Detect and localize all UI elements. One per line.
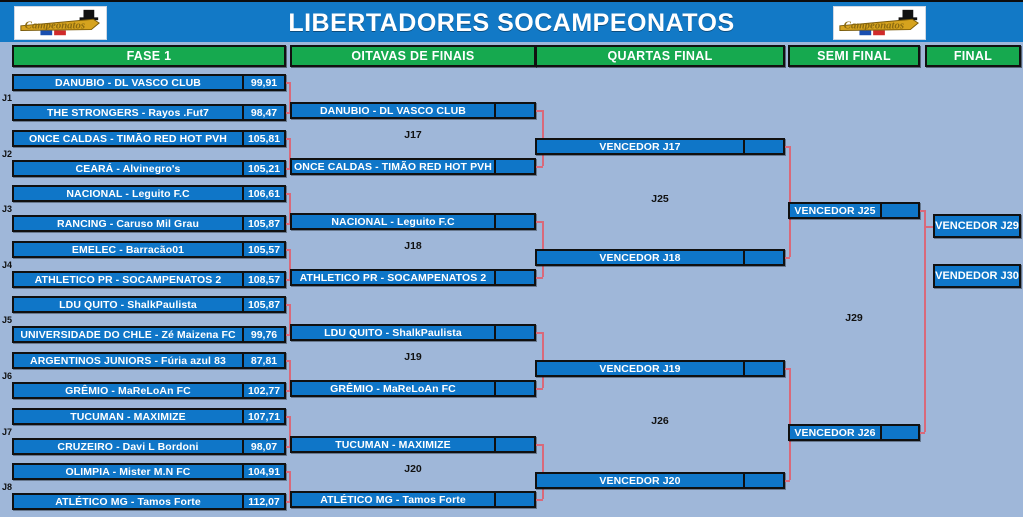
campeonatos-logo-right-icon: Campeonatos bbox=[833, 6, 926, 40]
team-score[interactable]: 105,21 bbox=[242, 162, 284, 175]
logo-graphic-right: Campeonatos bbox=[834, 7, 925, 39]
team-name: LDU QUITO - ShalkPaulista bbox=[292, 326, 494, 339]
team-score[interactable]: 108,57 bbox=[242, 273, 284, 286]
round-tab-oitavas-de-finais[interactable]: OITAVAS DE FINAIS bbox=[290, 45, 536, 67]
oitavas-team-box[interactable]: ONCE CALDAS - TIMÃO RED HOT PVH bbox=[290, 158, 536, 175]
fase1-match-label: J6 bbox=[2, 371, 12, 381]
semifinal-team-box[interactable]: VENCEDOR J26 bbox=[788, 424, 920, 441]
team-score[interactable] bbox=[743, 251, 783, 264]
fase1-team-box[interactable]: CRUZEIRO - Davi L Bordoni98,07 bbox=[12, 438, 286, 455]
quartas-match-code: J25 bbox=[535, 193, 785, 205]
team-name: VENCEDOR J17 bbox=[537, 140, 743, 153]
fase1-team-box[interactable]: UNIVERSIDADE DO CHLE - Zé Maizena FC99,7… bbox=[12, 326, 286, 343]
quartas-match-code: J26 bbox=[535, 415, 785, 427]
team-name: VENCEDOR J25 bbox=[790, 204, 880, 217]
team-name: CRUZEIRO - Davi L Bordoni bbox=[14, 440, 242, 453]
fase1-match-label: J2 bbox=[2, 149, 12, 159]
team-score[interactable]: 104,91 bbox=[242, 465, 284, 478]
oitavas-match-code: J18 bbox=[290, 240, 536, 252]
team-score[interactable]: 105,87 bbox=[242, 217, 284, 230]
fase1-team-box[interactable]: CEARÁ - Alvinegro's105,21 bbox=[12, 160, 286, 177]
team-score[interactable] bbox=[494, 215, 534, 228]
fase1-team-box[interactable]: LDU QUITO - ShalkPaulista105,87 bbox=[12, 296, 286, 313]
fase1-match-label: J4 bbox=[2, 260, 12, 270]
team-score[interactable]: 105,57 bbox=[242, 243, 284, 256]
team-name: DANUBIO - DL VASCO CLUB bbox=[14, 76, 242, 89]
team-name: ATHLETICO PR - SOCAMPENATOS 2 bbox=[14, 273, 242, 286]
fase1-match-label: J3 bbox=[2, 204, 12, 214]
team-score[interactable] bbox=[494, 438, 534, 451]
oitavas-team-box[interactable]: GRÊMIO - MaReLoAn FC bbox=[290, 380, 536, 397]
team-name: TUCUMAN - MAXIMIZE bbox=[14, 410, 242, 423]
team-score[interactable]: 87,81 bbox=[242, 354, 284, 367]
team-score[interactable] bbox=[494, 104, 534, 117]
team-name: RANCING - Caruso Mil Grau bbox=[14, 217, 242, 230]
team-name: CEARÁ - Alvinegro's bbox=[14, 162, 242, 175]
fase1-team-box[interactable]: GRÊMIO - MaReLoAn FC102,77 bbox=[12, 382, 286, 399]
team-score[interactable]: 106,61 bbox=[242, 187, 284, 200]
final-slot-box[interactable]: VENDEDOR J30 bbox=[933, 264, 1021, 288]
round-tab-final[interactable]: FINAL bbox=[925, 45, 1021, 67]
connector-h bbox=[536, 166, 543, 168]
team-name: GRÊMIO - MaReLoAn FC bbox=[14, 384, 242, 397]
oitavas-match-code: J17 bbox=[290, 129, 536, 141]
team-score[interactable]: 99,91 bbox=[242, 76, 284, 89]
team-name: ATHLETICO PR - SOCAMPENATOS 2 bbox=[292, 271, 494, 284]
title-bar: LIBERTADORES SOCAMPEONATOS Campeonatos C… bbox=[0, 0, 1023, 42]
fase1-team-box[interactable]: NACIONAL - Leguito F.C106,61 bbox=[12, 185, 286, 202]
oitavas-team-box[interactable]: NACIONAL - Leguito F.C bbox=[290, 213, 536, 230]
team-name: OLIMPIA - Mister M.N FC bbox=[14, 465, 242, 478]
semifinal-match-code: J29 bbox=[788, 312, 920, 324]
team-score[interactable] bbox=[494, 382, 534, 395]
team-name: LDU QUITO - ShalkPaulista bbox=[14, 298, 242, 311]
quartas-team-box[interactable]: VENCEDOR J19 bbox=[535, 360, 785, 377]
team-score[interactable] bbox=[494, 493, 534, 506]
fase1-team-box[interactable]: TUCUMAN - MAXIMIZE107,71 bbox=[12, 408, 286, 425]
team-name: GRÊMIO - MaReLoAn FC bbox=[292, 382, 494, 395]
fase1-team-box[interactable]: DANUBIO - DL VASCO CLUB99,91 bbox=[12, 74, 286, 91]
team-score[interactable]: 107,71 bbox=[242, 410, 284, 423]
connector-h bbox=[536, 388, 543, 390]
team-name: VENCEDOR J18 bbox=[537, 251, 743, 264]
team-score[interactable]: 112,07 bbox=[242, 495, 284, 508]
team-name: THE STRONGERS - Rayos .Fut7 bbox=[14, 106, 242, 119]
team-name: ATLÉTICO MG - Tamos Forte bbox=[14, 495, 242, 508]
team-score[interactable] bbox=[494, 160, 534, 173]
team-name: ARGENTINOS JUNIORS - Fúria azul 83 bbox=[14, 354, 242, 367]
connector-h bbox=[536, 499, 543, 501]
team-score[interactable]: 99,76 bbox=[242, 328, 284, 341]
connector-h bbox=[785, 257, 790, 259]
fase1-match-label: J7 bbox=[2, 427, 12, 437]
team-name: EMELEC - Barracão01 bbox=[14, 243, 242, 256]
campeonatos-logo-left-icon: Campeonatos bbox=[14, 6, 107, 40]
round-tab-semi-final[interactable]: SEMI FINAL bbox=[788, 45, 920, 67]
svg-text:Campeonatos: Campeonatos bbox=[25, 21, 85, 32]
team-name: DANUBIO - DL VASCO CLUB bbox=[292, 104, 494, 117]
quartas-team-box[interactable]: VENCEDOR J18 bbox=[535, 249, 785, 266]
team-name: VENCEDOR J26 bbox=[790, 426, 880, 439]
fase1-team-box[interactable]: EMELEC - Barracão01105,57 bbox=[12, 241, 286, 258]
connector-h bbox=[536, 277, 543, 279]
fase1-match-label: J1 bbox=[2, 93, 12, 103]
oitavas-team-box[interactable]: ATHLETICO PR - SOCAMPENATOS 2 bbox=[290, 269, 536, 286]
team-score[interactable] bbox=[494, 271, 534, 284]
connector-h bbox=[920, 432, 925, 434]
round-tab-quartas-final[interactable]: QUARTAS FINAL bbox=[535, 45, 785, 67]
team-name: ATLÉTICO MG - Tamos Forte bbox=[292, 493, 494, 506]
team-name: ONCE CALDAS - TIMÃO RED HOT PVH bbox=[14, 132, 242, 145]
team-score[interactable] bbox=[743, 474, 783, 487]
team-score[interactable]: 105,87 bbox=[242, 298, 284, 311]
fase1-team-box[interactable]: ARGENTINOS JUNIORS - Fúria azul 8387,81 bbox=[12, 352, 286, 369]
oitavas-team-box[interactable]: LDU QUITO - ShalkPaulista bbox=[290, 324, 536, 341]
team-name: VENCEDOR J19 bbox=[537, 362, 743, 375]
team-score[interactable]: 102,77 bbox=[242, 384, 284, 397]
fase1-team-box[interactable]: ONCE CALDAS - TIMÃO RED HOT PVH105,81 bbox=[12, 130, 286, 147]
fase1-team-box[interactable]: ATHLETICO PR - SOCAMPENATOS 2108,57 bbox=[12, 271, 286, 288]
team-name: UNIVERSIDADE DO CHLE - Zé Maizena FC bbox=[14, 328, 242, 341]
fase1-match-label: J5 bbox=[2, 315, 12, 325]
team-name: TUCUMAN - MAXIMIZE bbox=[292, 438, 494, 451]
fase1-team-box[interactable]: RANCING - Caruso Mil Grau105,87 bbox=[12, 215, 286, 232]
fase1-match-label: J8 bbox=[2, 482, 12, 492]
team-name: NACIONAL - Leguito F.C bbox=[292, 215, 494, 228]
team-name: NACIONAL - Leguito F.C bbox=[14, 187, 242, 200]
team-score[interactable] bbox=[880, 426, 918, 439]
semifinal-team-box[interactable]: VENCEDOR J25 bbox=[788, 202, 920, 219]
oitavas-team-box[interactable]: TUCUMAN - MAXIMIZE bbox=[290, 436, 536, 453]
svg-text:Campeonatos: Campeonatos bbox=[844, 21, 904, 32]
team-score[interactable] bbox=[880, 204, 918, 217]
team-score[interactable]: 98,47 bbox=[242, 106, 284, 119]
team-score[interactable] bbox=[494, 326, 534, 339]
oitavas-team-box[interactable]: ATLÉTICO MG - Tamos Forte bbox=[290, 491, 536, 508]
team-name: ONCE CALDAS - TIMÃO RED HOT PVH bbox=[292, 160, 494, 173]
team-score[interactable] bbox=[743, 140, 783, 153]
fase1-team-box[interactable]: OLIMPIA - Mister M.N FC104,91 bbox=[12, 463, 286, 480]
quartas-team-box[interactable]: VENCEDOR J17 bbox=[535, 138, 785, 155]
quartas-team-box[interactable]: VENCEDOR J20 bbox=[535, 472, 785, 489]
oitavas-match-code: J19 bbox=[290, 351, 536, 363]
team-name: VENCEDOR J20 bbox=[537, 474, 743, 487]
fase1-team-box[interactable]: THE STRONGERS - Rayos .Fut798,47 bbox=[12, 104, 286, 121]
team-score[interactable]: 98,07 bbox=[242, 440, 284, 453]
team-score[interactable] bbox=[743, 362, 783, 375]
connector-h bbox=[924, 226, 933, 228]
oitavas-match-code: J20 bbox=[290, 463, 536, 475]
fase1-team-box[interactable]: ATLÉTICO MG - Tamos Forte112,07 bbox=[12, 493, 286, 510]
logo-graphic-left: Campeonatos bbox=[15, 7, 106, 39]
final-slot-box[interactable]: VENCEDOR J29 bbox=[933, 214, 1021, 238]
connector-h bbox=[785, 480, 790, 482]
round-tab-fase-1[interactable]: FASE 1 bbox=[12, 45, 286, 67]
team-score[interactable]: 105,81 bbox=[242, 132, 284, 145]
connector-v bbox=[924, 210, 926, 432]
oitavas-team-box[interactable]: DANUBIO - DL VASCO CLUB bbox=[290, 102, 536, 119]
